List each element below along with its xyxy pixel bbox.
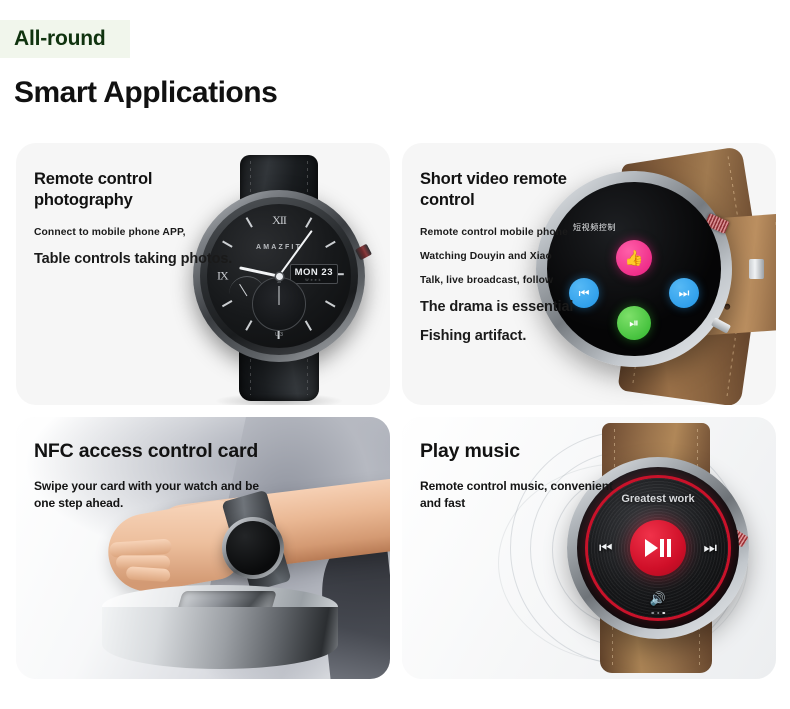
card-nfc-access-control[interactable]: NFC access control card Swipe your card … — [16, 417, 390, 679]
card2-line-5: Fishing artifact. — [420, 328, 620, 344]
page-dots — [651, 612, 665, 615]
card4-title: Play music — [420, 439, 625, 464]
card-short-video-remote-control[interactable]: Short video remote control Remote contro… — [402, 143, 776, 405]
card4-line-1: Remote control music, convenient and fas… — [420, 478, 625, 512]
play-pause-icon: ⏯ — [629, 317, 639, 329]
watch-face — [226, 521, 280, 575]
feature-card-grid: Remote control photography Connect to mo… — [16, 143, 776, 691]
date-window: MON 23 Week — [290, 264, 338, 284]
all-round-badge: All-round — [0, 20, 130, 58]
numeral-12: XII — [272, 213, 286, 228]
date-value: MON 23 — [295, 267, 333, 278]
skip-next-icon: ⏭ — [679, 287, 690, 299]
next-track-icon[interactable]: ⏭ — [703, 541, 717, 556]
card2-text-block: Short video remote control Remote contro… — [420, 169, 620, 357]
subdial-number: 30 — [277, 280, 281, 284]
badge-label: All-round — [0, 27, 106, 51]
watch-shadow — [214, 393, 344, 405]
card-remote-control-photography[interactable]: Remote control photography Connect to mo… — [16, 143, 390, 405]
play-pause-button[interactable] — [630, 520, 686, 576]
play-icon — [645, 539, 658, 557]
card2-title: Short video remote control — [420, 169, 620, 211]
date-sub-labels: Week — [295, 278, 333, 282]
subdial-bottom-label: U 3 — [275, 332, 283, 338]
seconds-subdial: 30 — [252, 277, 306, 331]
card1-text-block: Remote control photography Connect to mo… — [34, 169, 244, 280]
watch-buckle — [749, 259, 764, 279]
next-button[interactable]: ⏭ — [669, 278, 699, 308]
card1-line-1: Connect to mobile phone APP, — [34, 227, 244, 238]
card3-title: NFC access control card — [34, 439, 264, 464]
nfc-reader-pedestal — [102, 585, 338, 679]
card2-line-3: Talk, live broadcast, follow — [420, 275, 620, 286]
card2-line-2: Watching Douyin and Xiao — [420, 251, 620, 262]
like-button[interactable]: 👍 — [616, 240, 652, 276]
volume-up-icon: 🔊 — [691, 353, 703, 356]
card2-line-4: The drama is essential — [420, 299, 620, 315]
previous-track-icon[interactable]: ⏮ — [599, 541, 613, 556]
page-title: Smart Applications — [14, 76, 277, 110]
card-play-music[interactable]: Greatest work 周杰伦 ⏮ ⏭ 🔊 Play music — [402, 417, 776, 679]
card4-text-block: Play music Remote control music, conveni… — [420, 439, 625, 512]
pedestal-body — [102, 607, 338, 669]
thumbs-up-icon: 👍 — [625, 251, 644, 266]
card3-text-block: NFC access control card Swipe your card … — [34, 439, 264, 512]
promo-page: All-round Smart Applications Remote cont… — [0, 0, 790, 709]
play-pause-button[interactable]: ⏯ — [617, 306, 651, 340]
watch-case — [222, 517, 284, 579]
card1-line-2: Table controls taking photos. — [34, 251, 244, 267]
hands-pivot — [276, 273, 283, 280]
card3-line-1: Swipe your card with your watch and be o… — [34, 478, 264, 512]
watch-crown-icon — [355, 244, 372, 261]
card2-line-1: Remote control mobile phone — [420, 227, 620, 238]
pause-icon — [660, 539, 671, 557]
card1-title: Remote control photography — [34, 169, 244, 211]
volume-icon[interactable]: 🔊 — [650, 591, 666, 607]
